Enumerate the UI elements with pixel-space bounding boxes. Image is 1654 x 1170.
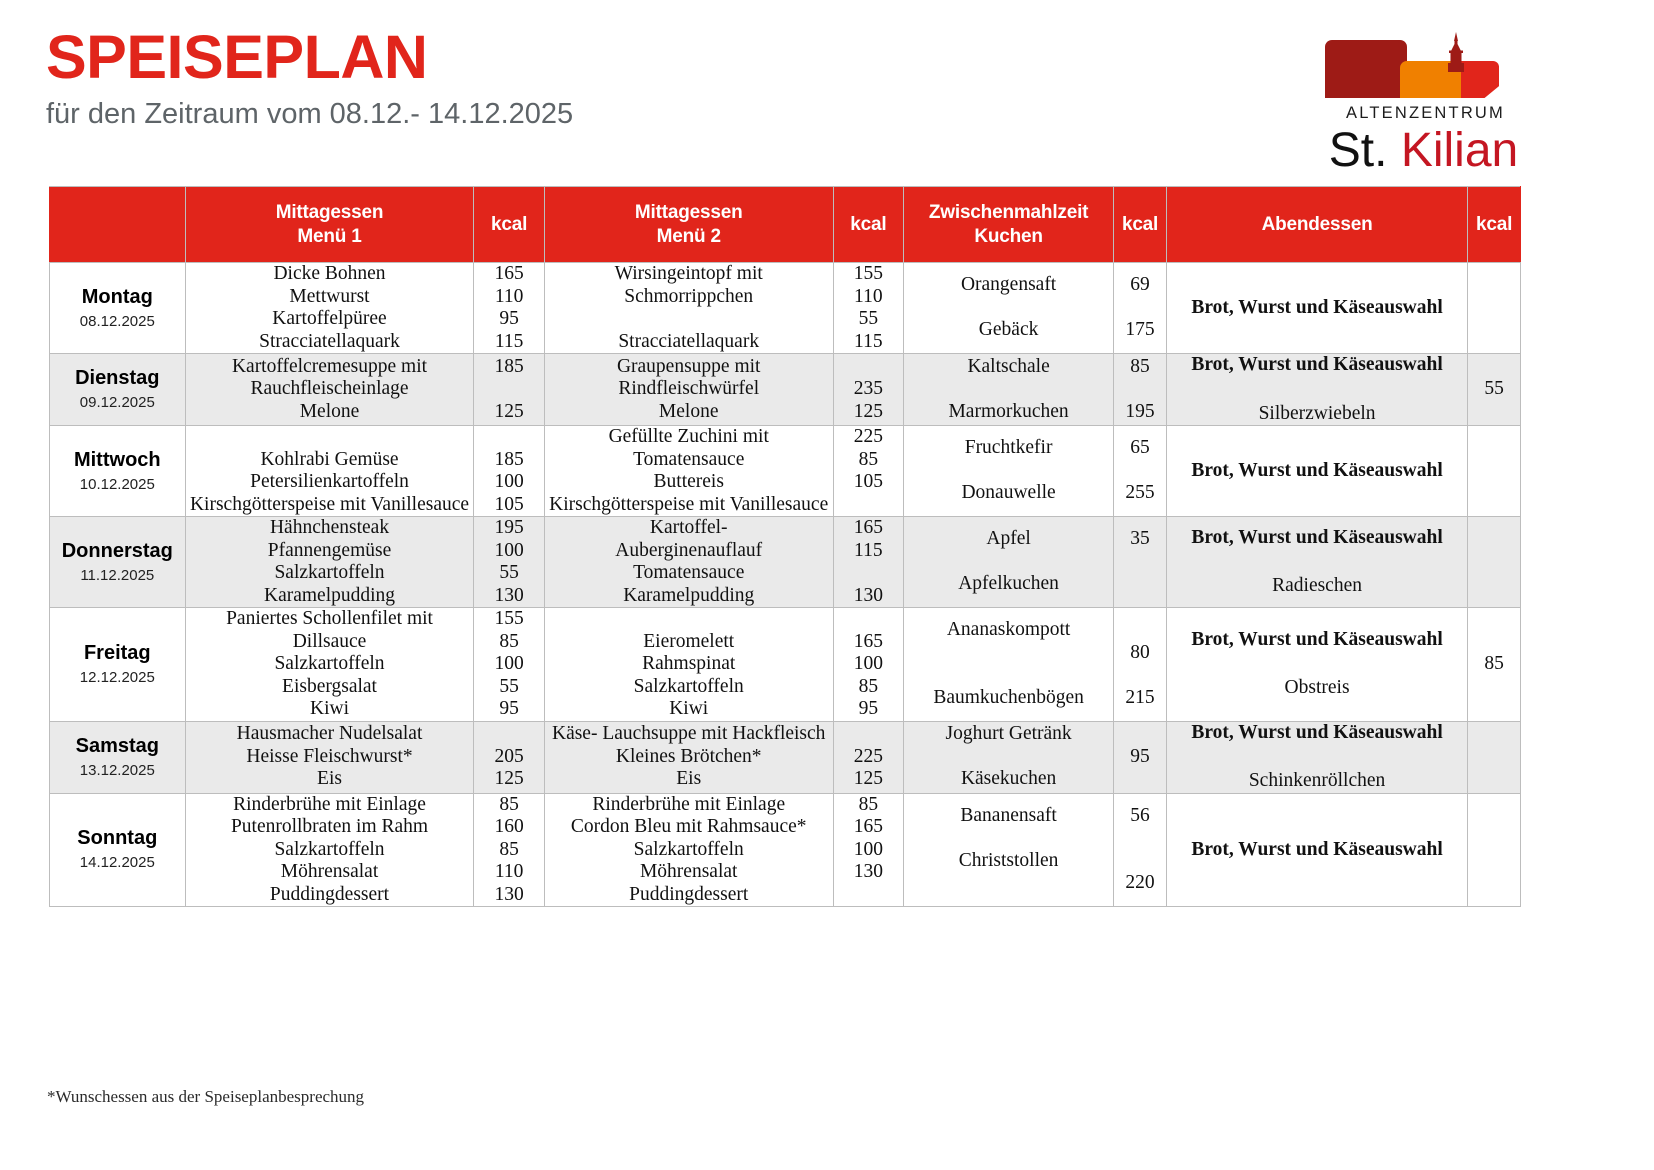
cell-line: Möhrensalat [186, 861, 474, 884]
cell-line: Möhrensalat [545, 861, 833, 884]
dinner-kcal-cell [1468, 426, 1521, 517]
dinner-cell: Brot, Wurst und KäseauswahlObstreis [1166, 608, 1467, 722]
cell-line [834, 884, 903, 907]
cell-line: Auberginenauflauf [545, 540, 833, 563]
cell-line: 115 [834, 331, 903, 354]
logo-block-dark-icon [1325, 40, 1407, 98]
dinner-kcal-cell [1468, 263, 1521, 354]
cell-line: 55 [474, 676, 543, 699]
cell-line: Kartoffel- [545, 517, 833, 540]
header-kcal1: kcal [474, 187, 544, 263]
cell-line: 100 [474, 653, 543, 676]
header-menu1-line2: Menü 1 [186, 225, 474, 249]
cell-line: Orangensaft [904, 274, 1113, 297]
speiseplan-page: SPEISEPLAN für den Zeitraum vom 08.12.- … [0, 0, 1654, 1170]
menu2-cell: Gefüllte Zuchini mitTomatensauceButterei… [544, 426, 833, 517]
cell-line: 69 [1114, 274, 1166, 297]
cell-line: 85 [1114, 356, 1166, 379]
menu1-kcal-cell: 19510055130 [474, 517, 544, 608]
cell-line: 85 [474, 631, 543, 654]
cell-line [904, 297, 1113, 320]
cell-line: Gebäck [904, 319, 1113, 342]
menu2-cell: Rinderbrühe mit EinlageCordon Bleu mit R… [544, 793, 833, 907]
cell-line: Kiwi [545, 698, 833, 721]
dinner-kcal-cell [1468, 793, 1521, 907]
dinner-cell: Brot, Wurst und Käseauswahl [1166, 426, 1467, 517]
cell-line: Graupensuppe mit [545, 356, 833, 379]
day-cell: Donnerstag11.12.2025 [50, 517, 186, 608]
cell-line: 85 [834, 676, 903, 699]
cell-line [1114, 460, 1166, 483]
cell-line: 35 [1114, 528, 1166, 551]
table-row: Sonntag14.12.2025Rinderbrühe mit Einlage… [50, 793, 1521, 907]
day-cell: Mittwoch10.12.2025 [50, 426, 186, 517]
cell-line [545, 608, 833, 631]
cell-line: 110 [474, 286, 543, 309]
cell-line: Kirschgötterspeise mit Vanillesauce [545, 494, 833, 517]
page-title: SPEISEPLAN [46, 24, 573, 90]
dinner-side: Silberzwiebeln [1167, 403, 1467, 426]
cell-line: Pfannengemüse [186, 540, 474, 563]
cell-line: Fruchtkefir [904, 437, 1113, 460]
cell-line: 125 [474, 401, 543, 424]
dinner-side: Obstreis [1167, 677, 1467, 700]
cell-line: Ananaskompott [904, 619, 1113, 642]
cell-line: 115 [474, 331, 543, 354]
menu1-cell: Kohlrabi GemüsePetersilienkartoffelnKirs… [185, 426, 474, 517]
cell-line: 185 [474, 449, 543, 472]
cell-line: 110 [474, 861, 543, 884]
day-cell: Sonntag14.12.2025 [50, 793, 186, 907]
day-name: Sonntag [50, 826, 185, 851]
cell-line: 95 [834, 698, 903, 721]
cell-line: Rinderbrühe mit Einlage [545, 794, 833, 817]
cell-line: 100 [834, 839, 903, 862]
footnote: *Wunschessen aus der Speiseplanbesprechu… [47, 1087, 364, 1107]
dinner-cell: Brot, Wurst und Käseauswahl [1166, 793, 1467, 907]
dinner-main: Brot, Wurst und Käseauswahl [1167, 297, 1467, 320]
cell-line: 130 [834, 585, 903, 608]
cell-line: 220 [1114, 872, 1166, 895]
cell-line: Hähnchensteak [186, 517, 474, 540]
cell-line [904, 746, 1113, 769]
cell-line: Bananensaft [904, 805, 1113, 828]
cell-line: 215 [1114, 687, 1166, 710]
cell-line: Dicke Bohnen [186, 263, 474, 286]
cell-line: Putenrollbraten im Rahm [186, 816, 474, 839]
cell-line: Donauwelle [904, 482, 1113, 505]
cell-line: Puddingdessert [186, 884, 474, 907]
header-snack: Zwischenmahlzeit Kuchen [904, 187, 1114, 263]
header-day [50, 187, 186, 263]
snack-kcal-cell: 85 195 [1114, 354, 1167, 426]
header-menu1-line1: Mittagessen [186, 201, 474, 225]
cell-line: 165 [834, 816, 903, 839]
cell-line: Heisse Fleischwurst* [186, 746, 474, 769]
cell-line: 95 [474, 308, 543, 331]
page-subtitle: für den Zeitraum vom 08.12.- 14.12.2025 [46, 96, 573, 132]
cell-line: 225 [834, 426, 903, 449]
menu1-cell: Dicke BohnenMettwurstKartoffelpüreeStrac… [185, 263, 474, 354]
menu2-kcal-cell: 1651008595 [833, 608, 903, 722]
day-date: 12.12.2025 [50, 668, 185, 688]
cell-line: 155 [474, 608, 543, 631]
cell-line [904, 551, 1113, 574]
cell-line: Rauchfleischeinlage [186, 378, 474, 401]
snack-kcal-cell: 65 255 [1114, 426, 1167, 517]
cell-line: Puddingdessert [545, 884, 833, 907]
snack-cell: Orangensaft Gebäck [904, 263, 1114, 354]
table-row: Donnerstag11.12.2025HähnchensteakPfannen… [50, 517, 1521, 608]
snack-kcal-cell: 35 [1114, 517, 1167, 608]
logo-building-icon [1321, 32, 1526, 98]
snack-cell: Fruchtkefir Donauwelle [904, 426, 1114, 517]
snack-cell: Apfel Apfelkuchen [904, 517, 1114, 608]
cell-line: 195 [1114, 401, 1166, 424]
cell-line: Rindfleischwürfel [545, 378, 833, 401]
cell-line [186, 426, 474, 449]
cell-line: 115 [834, 540, 903, 563]
table-row: Dienstag09.12.2025Kartoffelcremesuppe mi… [50, 354, 1521, 426]
cell-line [904, 642, 1113, 665]
cell-line: 165 [474, 263, 543, 286]
menu1-cell: Hausmacher NudelsalatHeisse Fleischwurst… [185, 721, 474, 793]
snack-cell: Ananaskompott Baumkuchenbögen [904, 608, 1114, 722]
cell-line [545, 308, 833, 331]
cell-line: 125 [834, 401, 903, 424]
menu1-kcal-cell: 185100105 [474, 426, 544, 517]
header-kcal4: kcal [1468, 187, 1521, 263]
cell-line: 100 [834, 653, 903, 676]
cell-line: Salzkartoffeln [545, 839, 833, 862]
cell-line: 105 [834, 471, 903, 494]
dinner-main: Brot, Wurst und Käseauswahl [1167, 527, 1467, 550]
cell-line: Hausmacher Nudelsalat [186, 723, 474, 746]
dinner-cell: Brot, Wurst und Käseauswahl [1166, 263, 1467, 354]
cell-line: 80 [1114, 642, 1166, 665]
snack-cell: Bananensaft Christstollen [904, 793, 1114, 907]
table-header: Mittagessen Menü 1 kcal Mittagessen Menü… [50, 187, 1521, 263]
cell-line: 205 [474, 746, 543, 769]
cell-line: Salzkartoffeln [186, 839, 474, 862]
cell-line [904, 664, 1113, 687]
day-date: 08.12.2025 [50, 312, 185, 332]
dinner-main: Brot, Wurst und Käseauswahl [1167, 460, 1467, 483]
cell-line: 56 [1114, 805, 1166, 828]
cell-line: Kaltschale [904, 356, 1113, 379]
cell-line: Eis [545, 768, 833, 791]
cell-line: Kiwi [186, 698, 474, 721]
cell-line: 85 [834, 794, 903, 817]
cell-line: 165 [834, 631, 903, 654]
meal-plan-table: Mittagessen Menü 1 kcal Mittagessen Menü… [49, 186, 1521, 907]
cell-line: 235 [834, 378, 903, 401]
menu2-kcal-cell: 85165100130 [833, 793, 903, 907]
dinner-cell: Brot, Wurst und KäseauswahlSchinkenröllc… [1166, 721, 1467, 793]
cell-line: Salzkartoffeln [186, 653, 474, 676]
church-spire-icon [1443, 32, 1469, 72]
cell-line [1114, 297, 1166, 320]
cell-line: Melone [545, 401, 833, 424]
header-kcal2: kcal [833, 187, 903, 263]
cell-line: Käsekuchen [904, 768, 1113, 791]
cell-line: Salzkartoffeln [545, 676, 833, 699]
cell-line [904, 460, 1113, 483]
menu2-kcal-cell: 22585105 [833, 426, 903, 517]
cell-line: Christstollen [904, 850, 1113, 873]
cell-line: 110 [834, 286, 903, 309]
cell-line [834, 608, 903, 631]
menu2-cell: Graupensuppe mitRindfleischwürfelMelone [544, 354, 833, 426]
dinner-cell: Brot, Wurst und KäseauswahlRadieschen [1166, 517, 1467, 608]
cell-line: 165 [834, 517, 903, 540]
snack-cell: Kaltschale Marmorkuchen [904, 354, 1114, 426]
menu1-kcal-cell: 205125 [474, 721, 544, 793]
cell-line [1114, 723, 1166, 746]
cell-line [1114, 551, 1166, 574]
cell-line: 130 [474, 585, 543, 608]
dinner-kcal-cell [1468, 517, 1521, 608]
day-name: Freitag [50, 641, 185, 666]
cell-line [1114, 850, 1166, 873]
cell-line [904, 827, 1113, 850]
menu1-kcal-cell: 155851005595 [474, 608, 544, 722]
header-menu2-line2: Menü 2 [545, 225, 833, 249]
cell-line: 130 [834, 861, 903, 884]
menu2-kcal-cell: 15511055115 [833, 263, 903, 354]
cell-line: Stracciatellaquark [186, 331, 474, 354]
dinner-kcal-cell: 55 [1468, 354, 1521, 426]
header-menu1: Mittagessen Menü 1 [185, 187, 474, 263]
cell-line: Gefüllte Zuchini mit [545, 426, 833, 449]
day-name: Samstag [50, 734, 185, 759]
dinner-side: Schinkenröllchen [1167, 770, 1467, 793]
cell-line [1114, 664, 1166, 687]
cell-line: 255 [1114, 482, 1166, 505]
cell-line: Wirsingeintopf mit [545, 263, 833, 286]
cell-line [1114, 827, 1166, 850]
cell-line: 85 [834, 449, 903, 472]
cell-line: Karamelpudding [545, 585, 833, 608]
cell-line: Kartoffelcremesuppe mit [186, 356, 474, 379]
cell-line: Apfel [904, 528, 1113, 551]
menu2-cell: Wirsingeintopf mitSchmorrippchen Stracci… [544, 263, 833, 354]
header-menu2-line1: Mittagessen [545, 201, 833, 225]
cell-line: Tomatensauce [545, 562, 833, 585]
cell-line: Kohlrabi Gemüse [186, 449, 474, 472]
day-name: Dienstag [50, 366, 185, 391]
cell-line: Stracciatellaquark [545, 331, 833, 354]
table-body: Montag08.12.2025Dicke BohnenMettwurstKar… [50, 263, 1521, 907]
menu2-cell: Käse- Lauchsuppe mit HackfleischKleines … [544, 721, 833, 793]
logo-name-st: St. [1329, 124, 1401, 177]
dinner-side: Radieschen [1167, 575, 1467, 598]
day-date: 11.12.2025 [50, 566, 185, 586]
snack-kcal-cell: 56 220 [1114, 793, 1167, 907]
cell-line: 105 [474, 494, 543, 517]
cell-line: Eis [186, 768, 474, 791]
cell-line: Apfelkuchen [904, 573, 1113, 596]
cell-line: Baumkuchenbögen [904, 687, 1113, 710]
logo: ALTENZENTRUM St. Kilian [1321, 32, 1526, 180]
menu2-cell: EieromelettRahmspinatSalzkartoffelnKiwi [544, 608, 833, 722]
cell-line: Rahmspinat [545, 653, 833, 676]
cell-line: Kartoffelpüree [186, 308, 474, 331]
table-row: Montag08.12.2025Dicke BohnenMettwurstKar… [50, 263, 1521, 354]
cell-line: Rinderbrühe mit Einlage [186, 794, 474, 817]
snack-kcal-cell: 80 215 [1114, 608, 1167, 722]
table-row: Freitag12.12.2025Paniertes Schollenfilet… [50, 608, 1521, 722]
day-date: 10.12.2025 [50, 475, 185, 495]
menu2-kcal-cell: 165115 130 [833, 517, 903, 608]
cell-line: Eisbergsalat [186, 676, 474, 699]
menu1-cell: Rinderbrühe mit EinlagePutenrollbraten i… [185, 793, 474, 907]
cell-line: Kleines Brötchen* [545, 746, 833, 769]
dinner-kcal-cell: 85 [1468, 608, 1521, 722]
menu1-kcal-cell: 16511095115 [474, 263, 544, 354]
cell-line: 160 [474, 816, 543, 839]
cell-line: 55 [474, 562, 543, 585]
cell-line: 95 [474, 698, 543, 721]
cell-line: 85 [474, 794, 543, 817]
day-cell: Montag08.12.2025 [50, 263, 186, 354]
cell-line: Salzkartoffeln [186, 562, 474, 585]
cell-line [474, 378, 543, 401]
cell-line: 125 [474, 768, 543, 791]
header-dinner: Abendessen [1166, 187, 1467, 263]
cell-line: 100 [474, 471, 543, 494]
cell-line: 125 [834, 768, 903, 791]
dinner-main: Brot, Wurst und Käseauswahl [1167, 354, 1467, 377]
cell-line [904, 872, 1113, 895]
cell-line: Käse- Lauchsuppe mit Hackfleisch [545, 723, 833, 746]
menu1-cell: Kartoffelcremesuppe mitRauchfleischeinla… [185, 354, 474, 426]
day-cell: Freitag12.12.2025 [50, 608, 186, 722]
cell-line: 225 [834, 746, 903, 769]
day-cell: Samstag13.12.2025 [50, 721, 186, 793]
menu2-cell: Kartoffel-AuberginenauflaufTomatensauceK… [544, 517, 833, 608]
dinner-main: Brot, Wurst und Käseauswahl [1167, 839, 1467, 862]
cell-line [834, 723, 903, 746]
cell-line: Cordon Bleu mit Rahmsauce* [545, 816, 833, 839]
dinner-cell: Brot, Wurst und KäseauswahlSilberzwiebel… [1166, 354, 1467, 426]
day-date: 09.12.2025 [50, 393, 185, 413]
day-date: 13.12.2025 [50, 761, 185, 781]
cell-line [1114, 378, 1166, 401]
dinner-main: Brot, Wurst und Käseauswahl [1167, 722, 1467, 745]
snack-cell: Joghurt Getränk Käsekuchen [904, 721, 1114, 793]
title-block: SPEISEPLAN für den Zeitraum vom 08.12.- … [46, 24, 573, 132]
snack-kcal-cell: 95 [1114, 721, 1167, 793]
cell-line [834, 494, 903, 517]
cell-line: 55 [834, 308, 903, 331]
cell-line [834, 356, 903, 379]
cell-line [1114, 768, 1166, 791]
cell-line: 85 [474, 839, 543, 862]
cell-line: Marmorkuchen [904, 401, 1113, 424]
menu1-kcal-cell: 8516085110130 [474, 793, 544, 907]
cell-line [1114, 619, 1166, 642]
cell-line: Eieromelett [545, 631, 833, 654]
cell-line: Kirschgötterspeise mit Vanillesauce [186, 494, 474, 517]
snack-kcal-cell: 69 175 [1114, 263, 1167, 354]
cell-line: Tomatensauce [545, 449, 833, 472]
cell-line: Schmorrippchen [545, 286, 833, 309]
header-kcal3: kcal [1114, 187, 1167, 263]
cell-line: 95 [1114, 746, 1166, 769]
menu2-kcal-cell: 235125 [833, 354, 903, 426]
logo-organisation: ALTENZENTRUM [1321, 104, 1526, 123]
cell-line [474, 723, 543, 746]
header-snack-line2: Kuchen [904, 225, 1113, 249]
cell-line: 185 [474, 356, 543, 379]
cell-line: 155 [834, 263, 903, 286]
day-name: Mittwoch [50, 448, 185, 473]
menu2-kcal-cell: 225125 [833, 721, 903, 793]
table-row: Samstag13.12.2025Hausmacher NudelsalatHe… [50, 721, 1521, 793]
day-name: Montag [50, 285, 185, 310]
cell-line: 195 [474, 517, 543, 540]
logo-name: St. Kilian [1321, 125, 1526, 177]
cell-line: 100 [474, 540, 543, 563]
cell-line: 130 [474, 884, 543, 907]
menu1-kcal-cell: 185 125 [474, 354, 544, 426]
menu1-cell: Paniertes Schollenfilet mitDillsauceSalz… [185, 608, 474, 722]
cell-line: Joghurt Getränk [904, 723, 1113, 746]
day-date: 14.12.2025 [50, 853, 185, 873]
dinner-main: Brot, Wurst und Käseauswahl [1167, 629, 1467, 652]
cell-line: Paniertes Schollenfilet mit [186, 608, 474, 631]
cell-line: Karamelpudding [186, 585, 474, 608]
cell-line [904, 378, 1113, 401]
header-snack-line1: Zwischenmahlzeit [904, 201, 1113, 225]
table-row: Mittwoch10.12.2025 Kohlrabi GemüsePeters… [50, 426, 1521, 517]
day-name: Donnerstag [50, 539, 185, 564]
menu1-cell: HähnchensteakPfannengemüseSalzkartoffeln… [185, 517, 474, 608]
logo-name-kilian: Kilian [1401, 124, 1518, 177]
header-menu2: Mittagessen Menü 2 [544, 187, 833, 263]
cell-line: Dillsauce [186, 631, 474, 654]
cell-line [1114, 573, 1166, 596]
cell-line: 175 [1114, 319, 1166, 342]
cell-line: 65 [1114, 437, 1166, 460]
dinner-kcal-cell [1468, 721, 1521, 793]
cell-line: Melone [186, 401, 474, 424]
cell-line [834, 562, 903, 585]
cell-line [474, 426, 543, 449]
cell-line: Petersilienkartoffeln [186, 471, 474, 494]
cell-line: Mettwurst [186, 286, 474, 309]
day-cell: Dienstag09.12.2025 [50, 354, 186, 426]
table-header-row: Mittagessen Menü 1 kcal Mittagessen Menü… [50, 187, 1521, 263]
cell-line: Buttereis [545, 471, 833, 494]
document-header: SPEISEPLAN für den Zeitraum vom 08.12.- … [46, 24, 1526, 174]
